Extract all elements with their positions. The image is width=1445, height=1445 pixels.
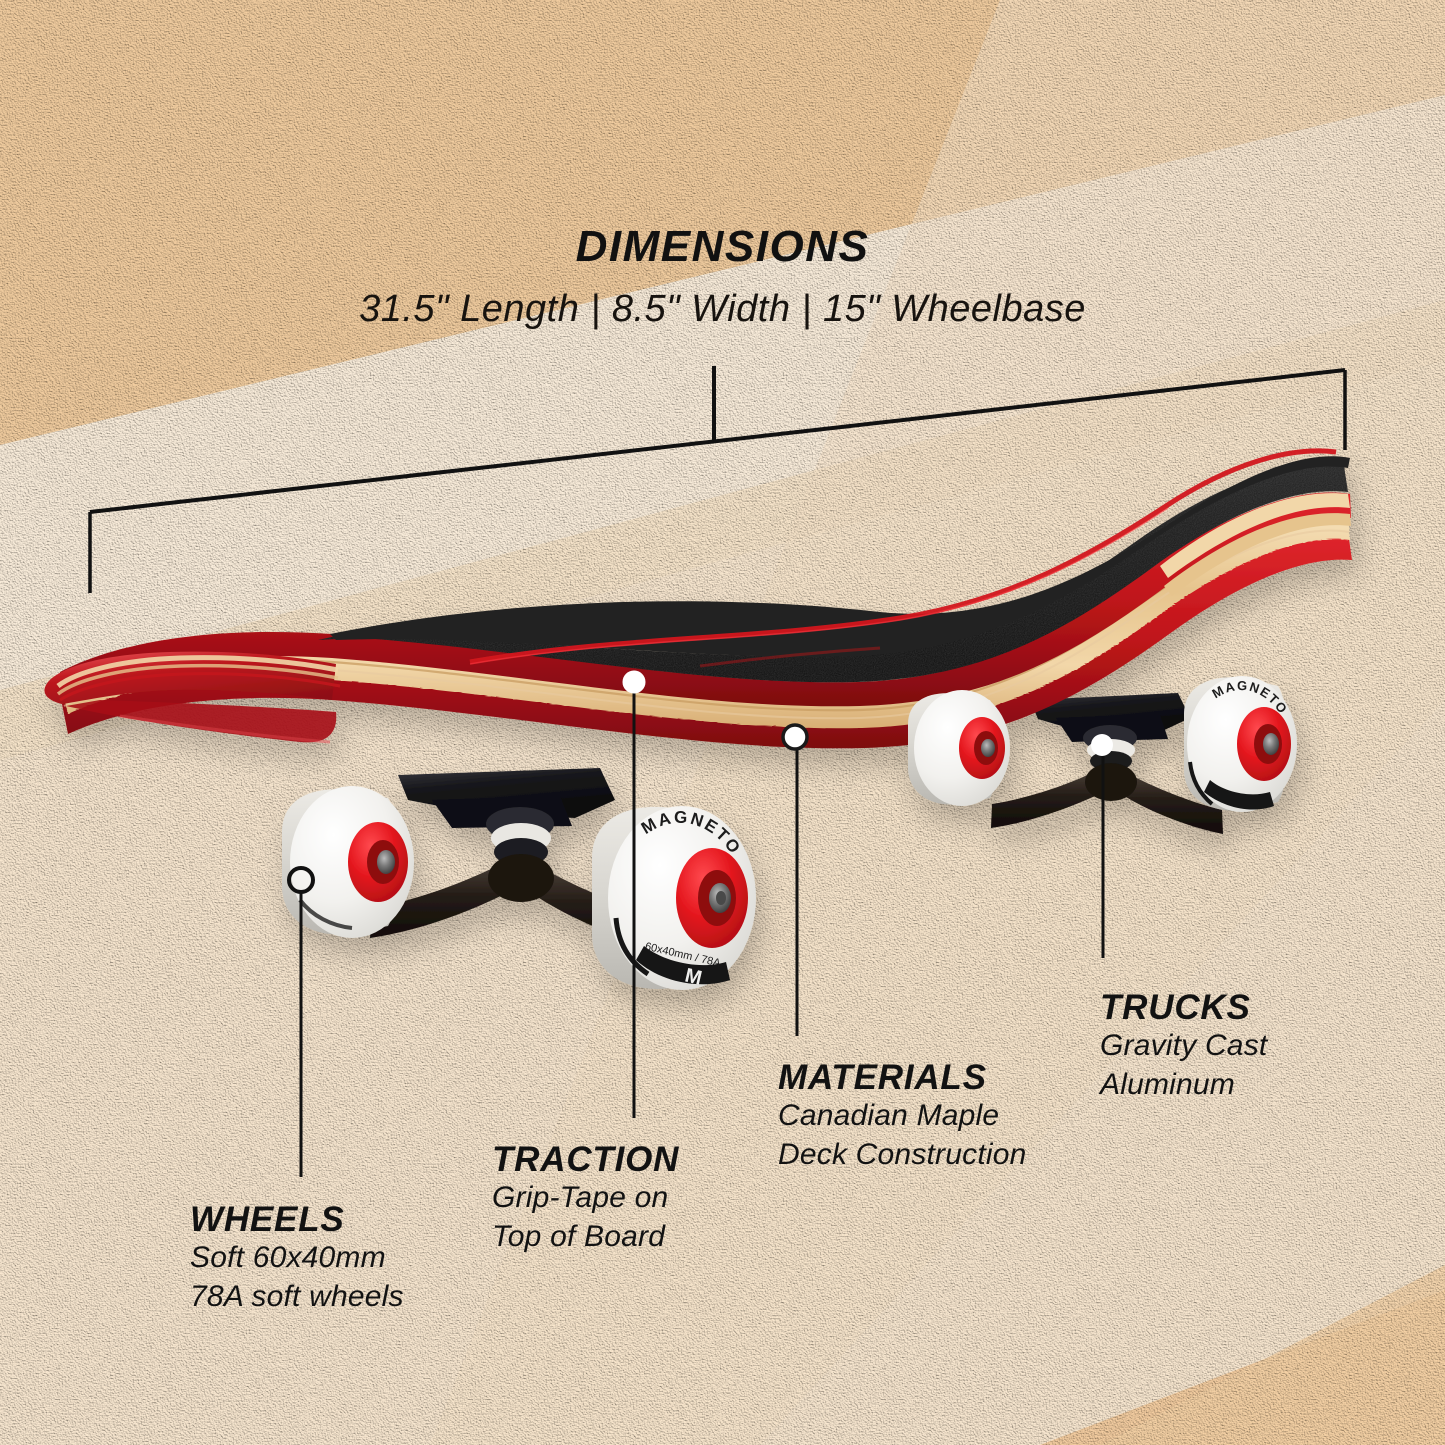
callout-trucks-line2: Aluminum [1100,1066,1267,1104]
callout-traction: TRACTION Grip-Tape on Top of Board [492,1140,679,1256]
callout-materials-title: MATERIALS [778,1058,1027,1097]
callout-traction-line2: Top of Board [492,1218,679,1256]
callout-traction-line1: Grip-Tape on [492,1179,679,1217]
callout-traction-title: TRACTION [492,1140,679,1179]
page-title: DIMENSIONS [0,222,1445,272]
callout-materials-line1: Canadian Maple [778,1097,1027,1135]
callout-wheels-title: WHEELS [190,1200,404,1239]
callout-wheels-line1: Soft 60x40mm [190,1239,404,1277]
callout-materials-line2: Deck Construction [778,1136,1027,1174]
callout-wheels-line2: 78A soft wheels [190,1278,404,1316]
callout-materials: MATERIALS Canadian Maple Deck Constructi… [778,1058,1027,1174]
callout-trucks: TRUCKS Gravity Cast Aluminum [1100,988,1267,1104]
callout-wheels: WHEELS Soft 60x40mm 78A soft wheels [190,1200,404,1316]
callout-trucks-line1: Gravity Cast [1100,1027,1267,1065]
dimensions-subtitle: 31.5" Length | 8.5" Width | 15" Wheelbas… [0,288,1445,331]
callout-trucks-title: TRUCKS [1100,988,1267,1027]
